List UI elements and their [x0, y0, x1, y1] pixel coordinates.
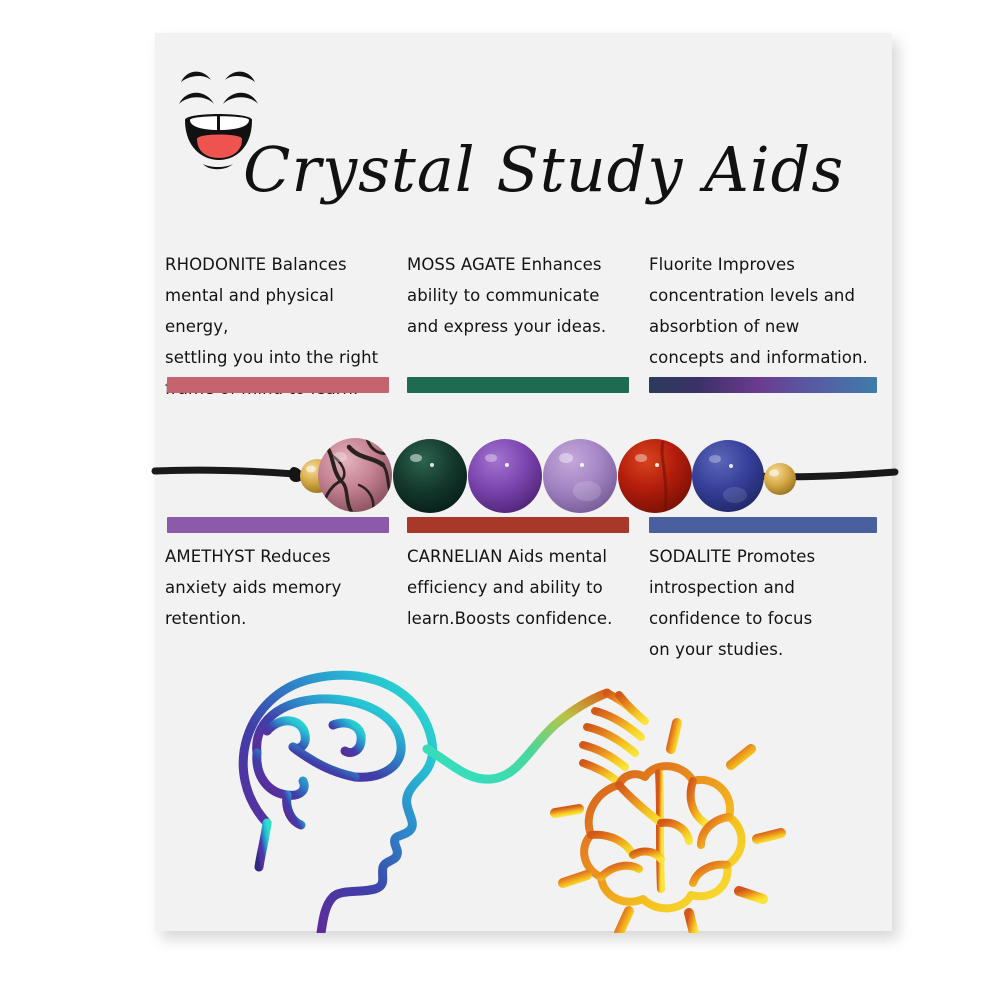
product-info-card: Crystal Study Aids RHODONITE Balances me…	[155, 33, 892, 931]
stone-text: AMETHYST Reduces anxiety aids memory ret…	[165, 541, 397, 634]
bead-sodalite	[692, 440, 764, 512]
brain-lightbulb-illustration	[215, 653, 835, 933]
card-header: Crystal Study Aids	[155, 33, 892, 208]
bead-amethyst	[468, 439, 542, 513]
bulb-cap-icon	[583, 693, 645, 781]
bead-gold-spacer-right	[764, 463, 796, 495]
bead-fluorite	[543, 439, 617, 513]
stone-description-carnelian: CARNELIAN Aids mental efficiency and abi…	[407, 541, 639, 634]
stone-description-sodalite: SODALITE Promotes introspection and conf…	[649, 541, 887, 665]
color-bar-rhodonite	[167, 377, 389, 393]
bead-rhodonite	[318, 438, 392, 512]
bead-moss-agate	[393, 439, 467, 513]
stone-text: CARNELIAN Aids mental efficiency and abi…	[407, 541, 639, 634]
bracelet-product-photo	[135, 425, 915, 525]
color-bar-moss-agate	[407, 377, 629, 393]
stone-description-moss-agate: MOSS AGATE Enhances ability to communica…	[407, 249, 639, 342]
color-bar-sodalite	[649, 517, 877, 533]
color-bar-fluorite	[649, 377, 877, 393]
color-bar-carnelian	[407, 517, 629, 533]
stone-text: Fluorite Improves concentration levels a…	[649, 249, 887, 373]
stone-description-fluorite: Fluorite Improves concentration levels a…	[649, 249, 887, 373]
page-title: Crystal Study Aids	[243, 125, 883, 215]
page-title-text: Crystal Study Aids	[243, 133, 844, 206]
stone-description-amethyst: AMETHYST Reduces anxiety aids memory ret…	[165, 541, 397, 634]
stone-text: SODALITE Promotes introspection and conf…	[649, 541, 887, 665]
connector-wave	[427, 693, 607, 779]
color-bar-amethyst	[167, 517, 389, 533]
screenshot-stage: Crystal Study Aids RHODONITE Balances me…	[0, 0, 1000, 1000]
bead-carnelian	[618, 439, 692, 513]
lightbulb-brain-icon	[584, 766, 741, 908]
brain-outline-icon	[257, 699, 401, 825]
stone-text: MOSS AGATE Enhances ability to communica…	[407, 249, 639, 342]
